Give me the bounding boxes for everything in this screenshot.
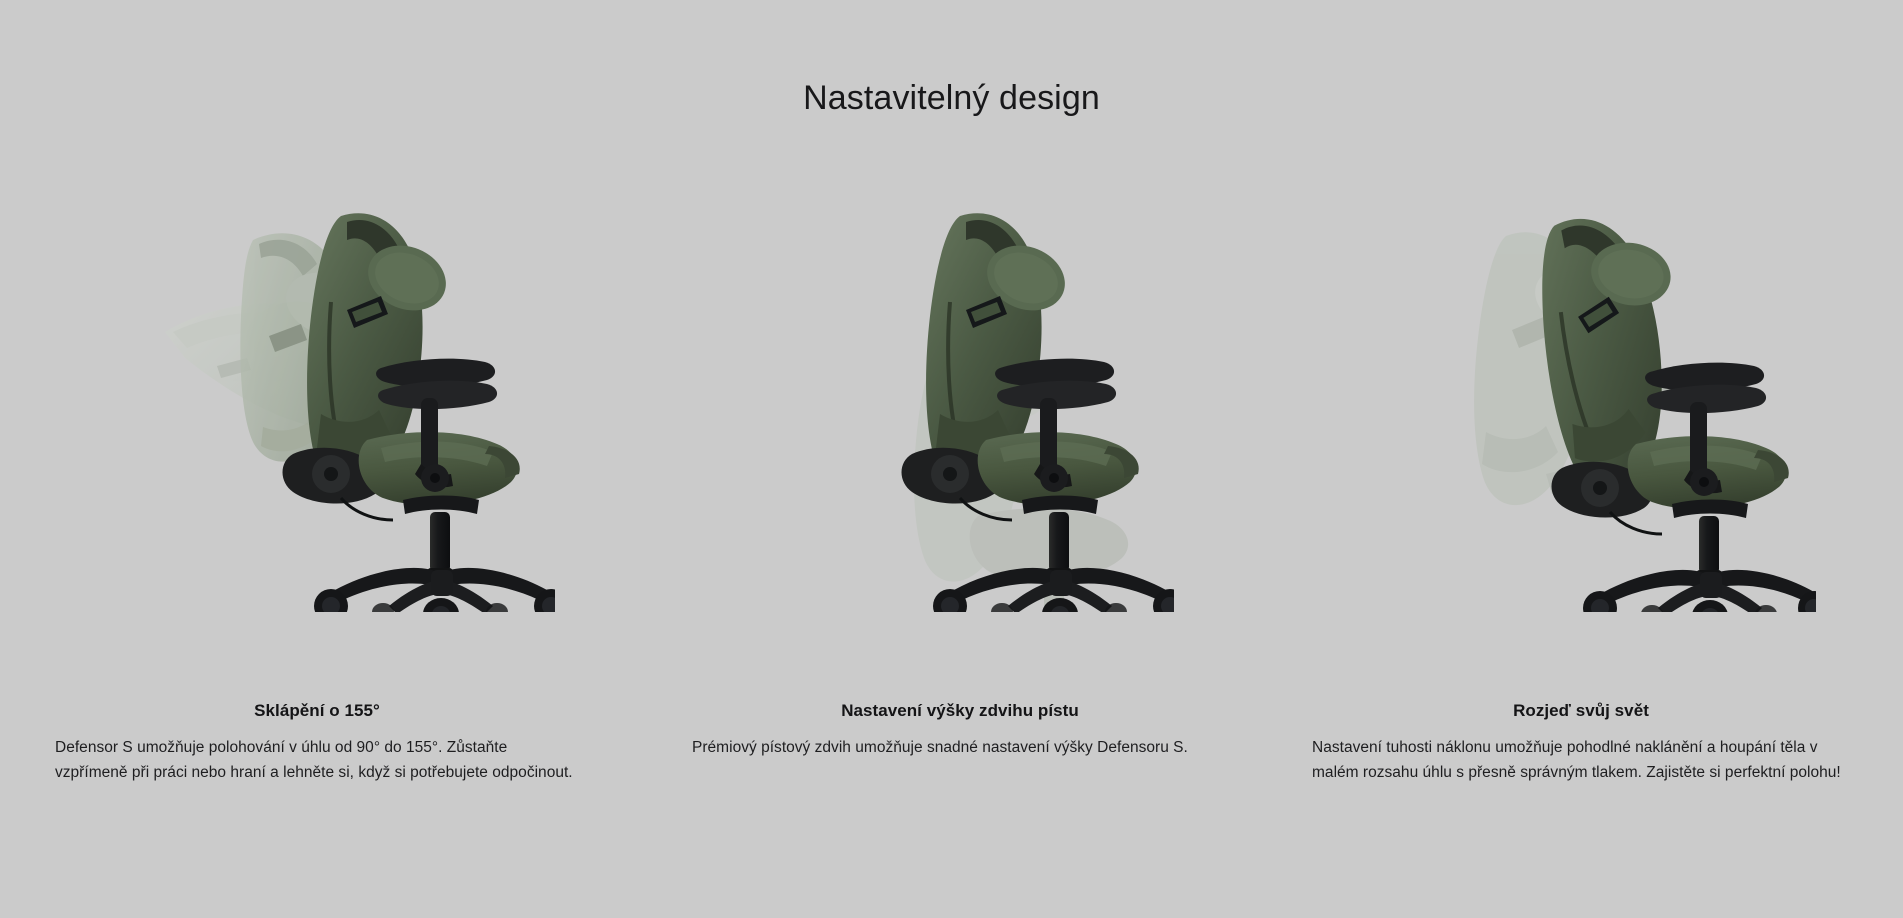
feature-title-recline: Sklápění o 155° <box>55 700 579 722</box>
feature-caption-gas-lift: Nastavení výšky zdvihu pístu Prémiový pí… <box>634 700 1268 760</box>
feature-title-tilt: Rozjeď svůj svět <box>1312 700 1850 722</box>
chair-tilt-icon <box>1386 190 1816 612</box>
feature-title-gas-lift: Nastavení výšky zdvihu pístu <box>692 700 1228 722</box>
tilt-tension-knob <box>1040 464 1068 492</box>
feature-card-recline: Sklápění o 155° Defensor S umožňuje polo… <box>0 190 634 890</box>
page-title: Nastavitelný design <box>0 78 1903 119</box>
feature-card-gas-lift: Nastavení výšky zdvihu pístu Prémiový pí… <box>634 190 1268 890</box>
feature-card-tilt: Rozjeď svůj svět Nastavení tuhosti náklo… <box>1268 190 1902 890</box>
feature-caption-tilt: Rozjeď svůj svět Nastavení tuhosti náklo… <box>1268 700 1902 785</box>
chair-recline-figure <box>0 190 634 700</box>
tilt-tension-knob <box>1690 468 1718 496</box>
chair-height-icon <box>754 190 1174 612</box>
feature-section: Nastavitelný design <box>0 0 1903 918</box>
feature-body-recline: Defensor S umožňuje polohování v úhlu od… <box>55 735 579 785</box>
feature-body-gas-lift: Prémiový pístový zdvih umožňuje snadné n… <box>692 735 1228 760</box>
feature-columns: Sklápění o 155° Defensor S umožňuje polo… <box>0 190 1903 890</box>
chair-base <box>1583 570 1816 612</box>
feature-caption-recline: Sklápění o 155° Defensor S umožňuje polo… <box>0 700 634 785</box>
tilt-tension-knob <box>421 464 449 492</box>
chair-base <box>314 568 555 612</box>
chair-gas-lift-figure <box>634 190 1268 700</box>
feature-body-tilt: Nastavení tuhosti náklonu umožňuje pohod… <box>1312 735 1850 785</box>
chair-tilt-figure <box>1268 190 1902 700</box>
chair-recline-icon <box>135 190 555 612</box>
